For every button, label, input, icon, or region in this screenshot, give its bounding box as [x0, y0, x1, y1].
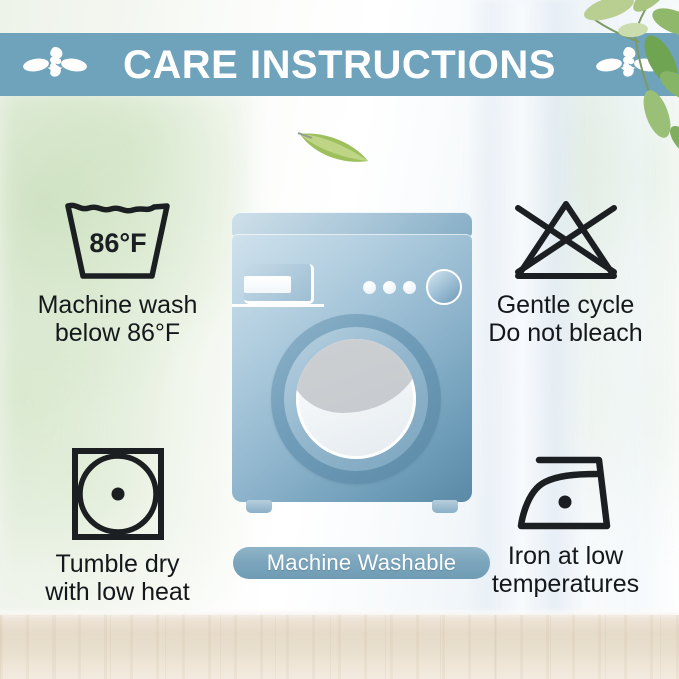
- care-symbol-do-not-bleach: Gentle cycle Do not bleach: [452, 198, 679, 347]
- program-knob: [426, 269, 462, 305]
- care-symbol-machine-wash: 86°F Machine wash below 86°F: [0, 200, 235, 347]
- washing-machine-illustration: [228, 212, 476, 522]
- care-label-line2: below 86°F: [55, 319, 180, 347]
- care-label-line1: Tumble dry: [55, 550, 179, 578]
- care-label-line2: with low heat: [45, 578, 190, 606]
- triangle-crossed-out-icon: [512, 198, 620, 282]
- fleur-de-lis-icon: [22, 43, 88, 87]
- fleur-de-lis-icon: [595, 43, 661, 87]
- badge-label: Machine Washable: [267, 550, 456, 576]
- single-leaf-icon: [296, 121, 372, 165]
- machine-top-lid: [232, 212, 472, 236]
- wash-tub-icon: 86°F: [62, 200, 174, 282]
- indicator-light: [383, 281, 396, 294]
- care-symbol-tumble-dry: Tumble dry with low heat: [0, 446, 235, 606]
- door-glass: [296, 339, 416, 459]
- door-outer-ring: [271, 314, 441, 484]
- machine-panel-divider: [232, 304, 324, 307]
- wash-temperature-value: 86°F: [89, 228, 146, 258]
- care-label-line2: temperatures: [492, 570, 639, 598]
- indicator-light: [403, 281, 416, 294]
- door-inner-ring: [284, 327, 428, 471]
- detergent-drawer-slot: [244, 276, 291, 293]
- indicator-light: [363, 281, 376, 294]
- care-label-line2: Do not bleach: [488, 319, 642, 347]
- banner: CARE INSTRUCTIONS: [0, 33, 679, 96]
- care-label-line1: Machine wash: [38, 291, 198, 319]
- machine-foot: [246, 500, 272, 513]
- care-symbol-iron-low: Iron at low temperatures: [452, 452, 679, 598]
- care-label-line1: Iron at low: [508, 542, 623, 570]
- banner-title: CARE INSTRUCTIONS: [123, 45, 556, 85]
- machine-foot: [432, 500, 458, 513]
- machine-body: [232, 234, 472, 502]
- wood-surface: [0, 615, 679, 679]
- care-instructions-graphic: CARE INSTRUCTIONS: [0, 0, 679, 679]
- machine-washable-badge: Machine Washable: [233, 547, 490, 579]
- tumble-dry-square-circle-icon: [70, 446, 166, 542]
- door-glass-shading: [296, 339, 416, 413]
- care-label-line1: Gentle cycle: [497, 291, 635, 319]
- iron-one-dot-icon: [511, 452, 621, 534]
